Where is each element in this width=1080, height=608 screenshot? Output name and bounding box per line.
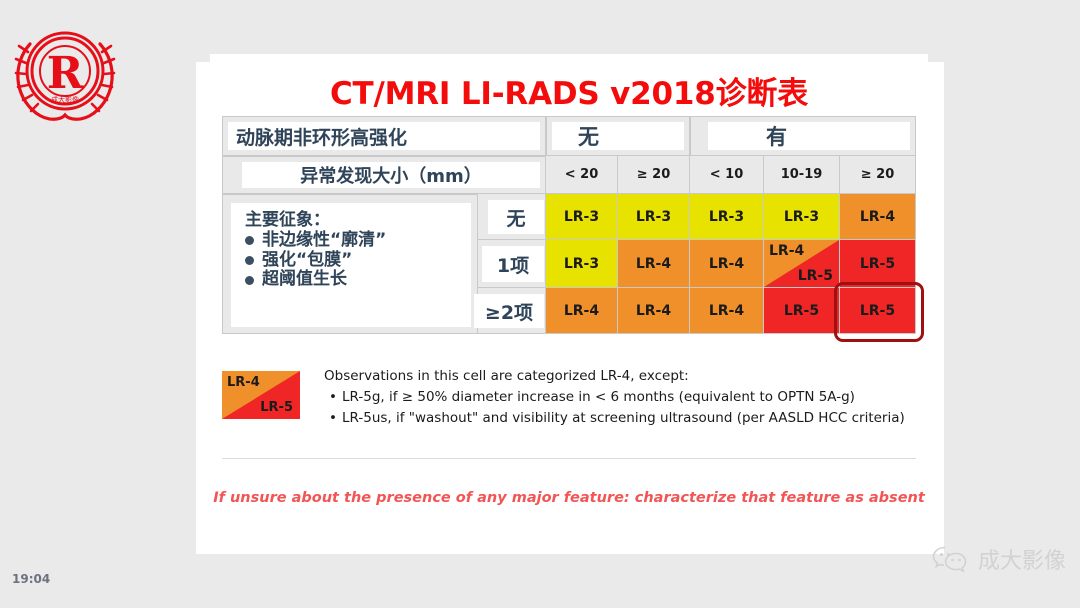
watermark-text: 成大影像 [978,543,1066,575]
aphe-row-label: 动脉期非环形高强化 [228,122,540,150]
grid-cell: LR-4 [618,288,690,334]
size-col-2: < 10 [690,156,764,194]
size-col-4: ≥ 20 [840,156,916,194]
logo-graphic: R 成大影像 [6,16,124,134]
legend-item-text: LR-5g, if ≥ 50% diameter increase in < 6… [342,387,855,408]
major-feature-label: 非边缘性“廓清” [262,232,386,250]
grid-cell: LR-4 [690,288,764,334]
grid-cell: LR-5 [840,240,916,288]
legend-item: • LR-5g, if ≥ 50% diameter increase in <… [324,387,905,408]
grid-cell: LR-3 [618,194,690,240]
aphe-group-no-label: 无 [552,122,684,150]
logo-caption: 成大影像 [51,95,79,104]
grid-cell: LR-4 [618,240,690,288]
wechat-icon [932,544,968,574]
slide-card: CT/MRI LI-RADS v2018诊断表 动脉期非环形高强化 无 有 异常… [210,54,928,554]
watermark: 成大影像 [932,543,1066,575]
institution-logo: R 成大影像 [6,16,124,134]
bullet-dot-icon [245,276,254,285]
footnote: If unsure about the presence of any majo… [210,490,928,506]
size-col-1: ≥ 20 [618,156,690,194]
major-feature-item: 超阈值生长 [245,271,471,289]
aphe-group-yes-label: 有 [708,122,910,150]
grid-cell-split: LR-4 LR-5 [764,240,840,288]
legend-text-block: Observations in this cell are categorize… [324,366,905,429]
slide-stage: R 成大影像 CT/MRI LI-RADS v2018诊断表 动脉期非环形高强化… [0,0,1080,608]
row-label-none: 无 [488,200,544,234]
split-upper-label: LR-4 [769,243,804,259]
legend-item: • LR-5us, if "washout" and visibility at… [324,408,905,429]
major-features-content: 主要征象： 非边缘性“廓清” 强化“包膜” 超阈值生长 [231,203,471,327]
legend-swatch-lower-label: LR-5 [260,400,293,415]
legend-swatch-upper-label: LR-4 [227,375,260,390]
logo-letter: R [47,48,84,99]
major-feature-item: 非边缘性“廓清” [245,232,471,250]
major-features-panel: 主要征象： 非边缘性“廓清” 强化“包膜” 超阈值生长 [222,194,478,334]
grid-cell: LR-4 [546,288,618,334]
grid-cell: LR-4 [840,194,916,240]
major-feature-item: 强化“包膜” [245,252,471,270]
size-col-3: 10-19 [764,156,840,194]
size-col-0: < 20 [546,156,618,194]
legend-heading: Observations in this cell are categorize… [324,366,905,387]
grid-cell: LR-3 [546,240,618,288]
grid-cell: LR-5 [764,288,840,334]
grid-cell: LR-3 [546,194,618,240]
major-features-title: 主要征象： [245,212,471,229]
grid-cell: LR-3 [764,194,840,240]
grid-cell: LR-4 [690,240,764,288]
split-lower-label: LR-5 [798,268,833,284]
clock: 19:04 [12,572,50,586]
page-title: CT/MRI LI-RADS v2018诊断表 [210,68,928,113]
divider [222,458,916,459]
bullet-dot-icon [245,236,254,245]
grid-cell-highlighted: LR-5 [840,288,916,334]
lirads-diagnostic-table: 动脉期非环形高强化 无 有 异常发现大小（mm） < 20 ≥ 20 < 10 … [222,116,916,356]
bullet-dot-icon [245,256,254,265]
major-feature-label: 超阈值生长 [262,271,347,289]
row-label-one: 1项 [482,246,544,282]
legend-item-text: LR-5us, if "washout" and visibility at s… [342,408,905,429]
major-feature-label: 强化“包膜” [262,252,352,270]
grid-cell: LR-3 [690,194,764,240]
row-label-two-plus: ≥2项 [474,294,544,328]
size-row-label: 异常发现大小（mm） [242,162,540,188]
bullet-icon: • [324,408,342,429]
legend-swatch-split: LR-4 LR-5 [222,371,300,419]
bullet-icon: • [324,387,342,408]
